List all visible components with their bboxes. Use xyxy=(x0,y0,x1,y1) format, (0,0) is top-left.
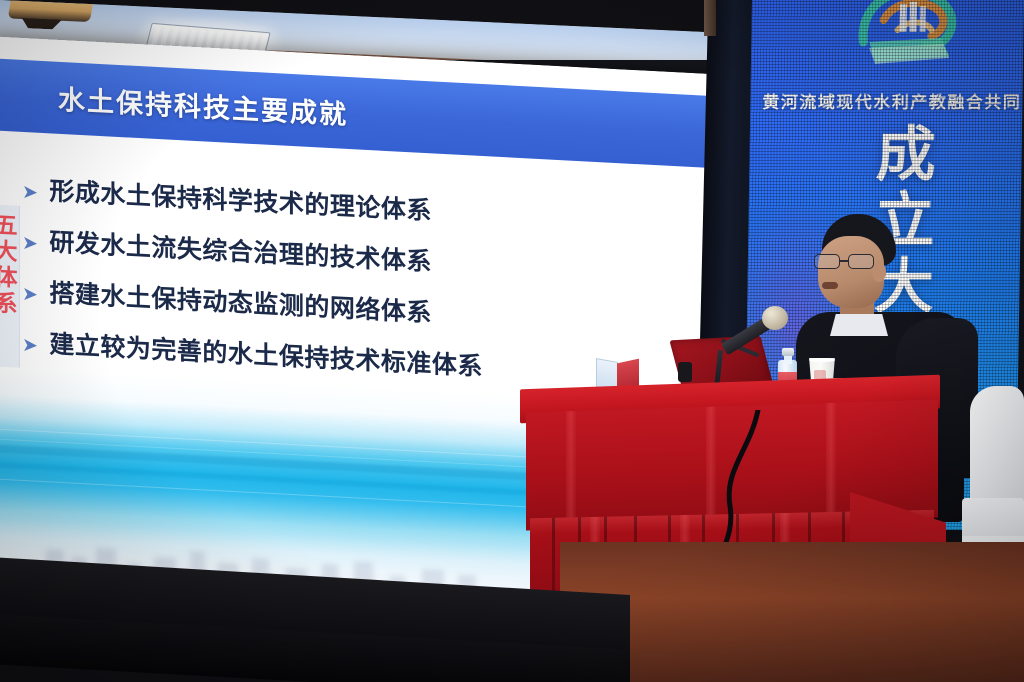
presenter-shirt-collar xyxy=(830,314,888,336)
bullet-arrow-icon: ➤ xyxy=(22,232,38,255)
bullet-text: 搭建水土保持动态监测的网络体系 xyxy=(49,273,432,329)
bullet-arrow-icon: ➤ xyxy=(22,283,38,306)
microphone-head xyxy=(762,306,788,330)
support-pole xyxy=(704,0,716,36)
slide-side-label-text: 五大体系 xyxy=(0,212,19,318)
bullet-text: 研发水土流失综合治理的技术体系 xyxy=(49,222,432,278)
bullet-arrow-icon: ➤ xyxy=(22,334,38,357)
glasses-icon xyxy=(812,254,882,270)
presenter-mouth xyxy=(822,282,838,289)
chair-back xyxy=(970,386,1024,516)
bullet-text: 形成水土保持科学技术的理论体系 xyxy=(49,171,432,227)
yellow-river-swirl-logo xyxy=(853,0,966,72)
conference-photo-scene: 水土保持科技主要成就 五大体系 ➤ 形成水土保持科学技术的理论体系 ➤ 研发水土… xyxy=(0,0,1024,682)
banner-subtitle: 黄河流域现代水利产教融合共同 xyxy=(762,88,1021,113)
ceiling-light-fixture-left xyxy=(8,0,95,22)
bullet-arrow-icon: ➤ xyxy=(22,181,38,204)
